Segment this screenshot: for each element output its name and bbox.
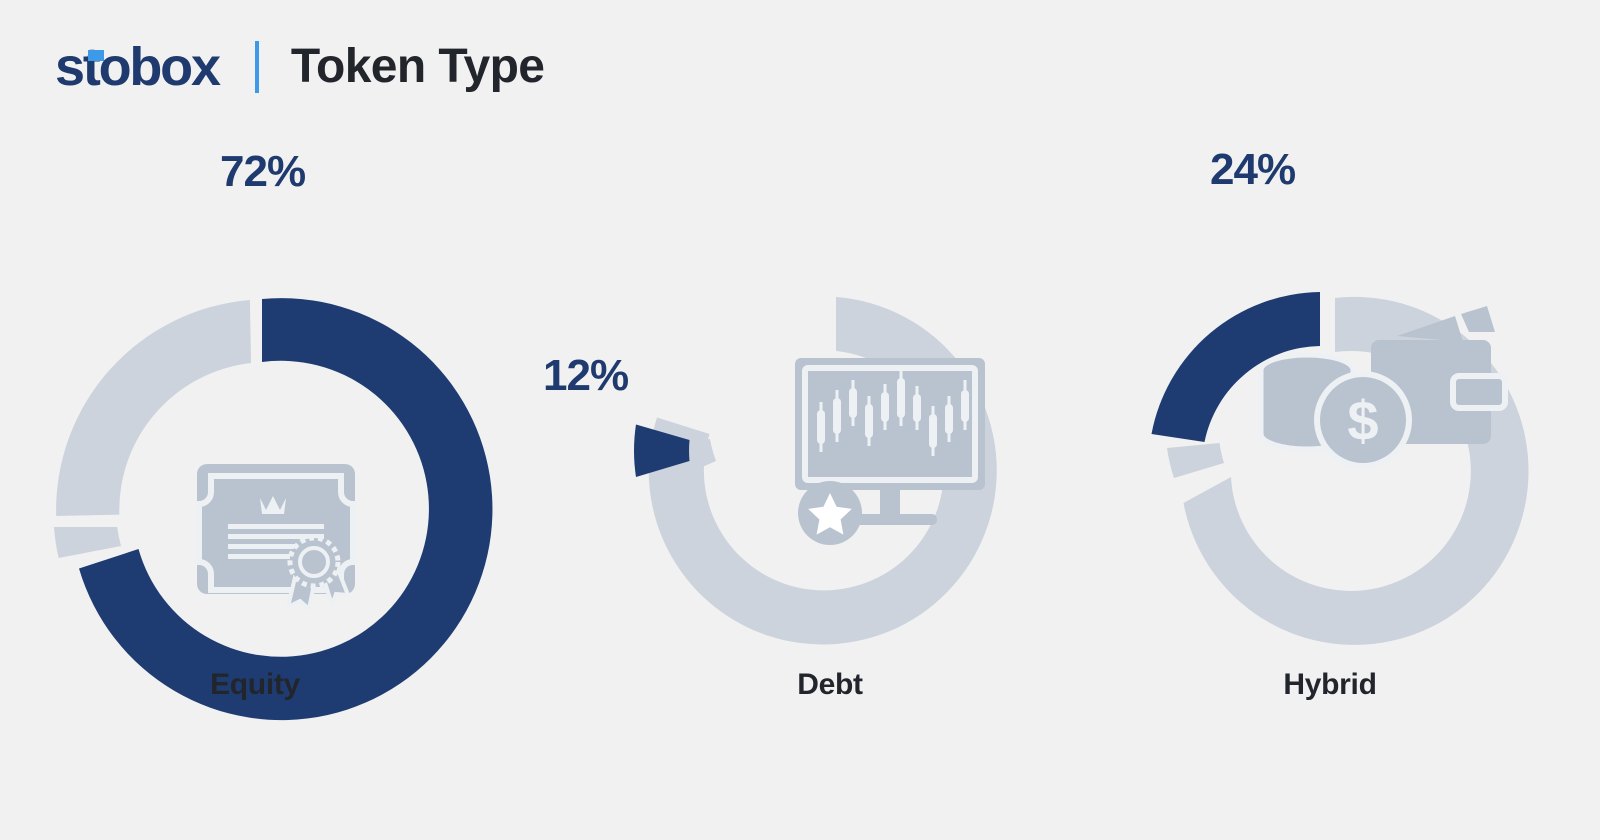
donut-chart-row: 72% Equity — [0, 118, 1600, 738]
donut-card-equity: 72% Equity — [20, 118, 490, 738]
donut-hybrid-svg: $ — [1095, 118, 1565, 638]
donut-hybrid-value-label: 24% — [1210, 148, 1295, 192]
page-title: Token Type — [291, 43, 545, 91]
donut-card-debt: 12% Debt — [595, 118, 1065, 738]
donut-debt-category-label: Debt — [595, 670, 1065, 700]
donut-debt-svg — [595, 118, 1065, 638]
donut-equity-category-label: Equity — [20, 670, 490, 700]
donut-card-hybrid: $ 24% Hybrid — [1095, 118, 1565, 738]
donut-hybrid-category-label: Hybrid — [1095, 670, 1565, 700]
donut-debt: 12% — [595, 118, 1065, 638]
stobox-t-accent-icon — [88, 50, 104, 61]
stobox-logo-text: stobox — [55, 37, 219, 97]
vertical-divider-icon — [255, 41, 259, 93]
stobox-logo: stobox — [55, 40, 219, 94]
donut-debt-value-label: 12% — [543, 354, 628, 398]
header: stobox Token Type — [55, 34, 544, 100]
donut-equity-svg — [20, 118, 490, 638]
donut-equity-value-label: 72% — [220, 150, 305, 194]
donut-equity: 72% — [20, 118, 490, 638]
svg-text:$: $ — [1347, 389, 1378, 452]
donut-hybrid: $ 24% — [1095, 118, 1565, 638]
certificate-icon — [197, 464, 355, 609]
